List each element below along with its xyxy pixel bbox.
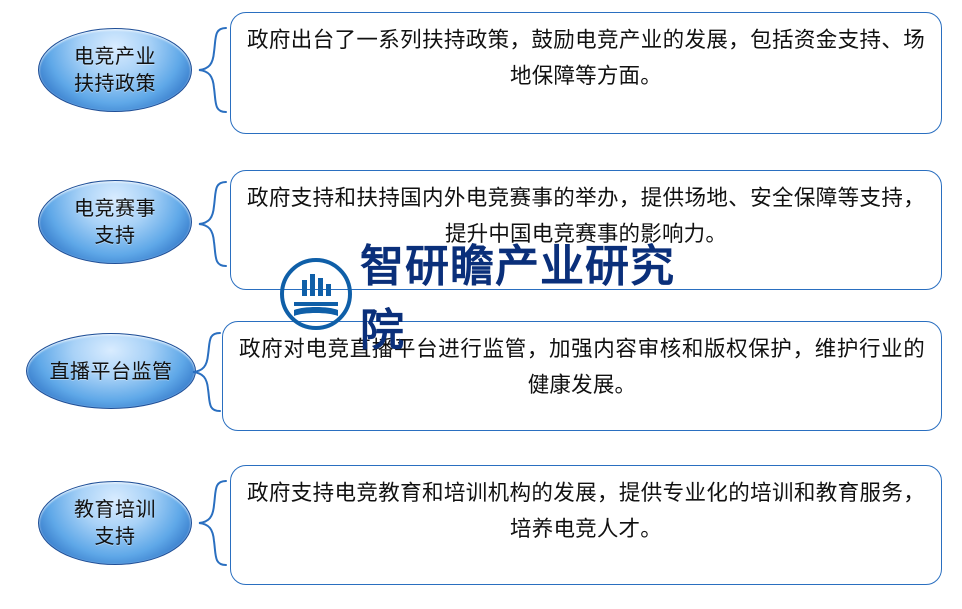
row-description-text: 政府对电竞直播平台进行监管，加强内容审核和版权保护，维护行业的健康发展。 [239,332,925,404]
brace-icon [190,331,224,413]
brace-icon [196,180,230,268]
row-label-text: 电竞赛事 支持 [74,195,156,249]
row-description-text: 政府支持和扶持国内外电竞赛事的举办，提供场地、安全保障等支持，提升中国电竞赛事的… [247,181,925,253]
row-description-box: 政府对电竞直播平台进行监管，加强内容审核和版权保护，维护行业的健康发展。 [222,321,942,431]
row-label-text: 直播平台监管 [50,358,173,385]
diagram-row: 直播平台监管 政府对电竞直播平台进行监管，加强内容审核和版权保护，维护行业的健康… [0,305,962,445]
row-description-box: 政府出台了一系列扶持政策，鼓励电竞产业的发展，包括资金支持、场地保障等方面。 [230,12,942,134]
diagram-row: 电竞产业 扶持政策 政府出台了一系列扶持政策，鼓励电竞产业的发展，包括资金支持、… [0,4,962,144]
row-label-pill: 直播平台监管 [26,333,196,409]
row-description-text: 政府支持电竞教育和培训机构的发展，提供专业化的培训和教育服务，培养电竞人才。 [247,476,925,548]
row-description-box: 政府支持和扶持国内外电竞赛事的举办，提供场地、安全保障等支持，提升中国电竞赛事的… [230,170,942,290]
row-label-text: 教育培训 支持 [74,496,156,550]
policy-diagram: 电竞产业 扶持政策 政府出台了一系列扶持政策，鼓励电竞产业的发展，包括资金支持、… [0,0,962,609]
row-label-pill: 电竞产业 扶持政策 [38,28,192,112]
brace-icon [196,26,230,114]
row-label-text: 电竞产业 扶持政策 [74,43,156,97]
row-description-box: 政府支持电竞教育和培训机构的发展，提供专业化的培训和教育服务，培养电竞人才。 [230,465,942,585]
row-label-pill: 电竞赛事 支持 [38,180,192,264]
diagram-row: 电竞赛事 支持 政府支持和扶持国内外电竞赛事的举办，提供场地、安全保障等支持，提… [0,152,962,292]
brace-icon [196,479,230,567]
row-label-pill: 教育培训 支持 [38,481,192,565]
diagram-row: 教育培训 支持 政府支持电竞教育和培训机构的发展，提供专业化的培训和教育服务，培… [0,455,962,595]
row-description-text: 政府出台了一系列扶持政策，鼓励电竞产业的发展，包括资金支持、场地保障等方面。 [247,23,925,95]
